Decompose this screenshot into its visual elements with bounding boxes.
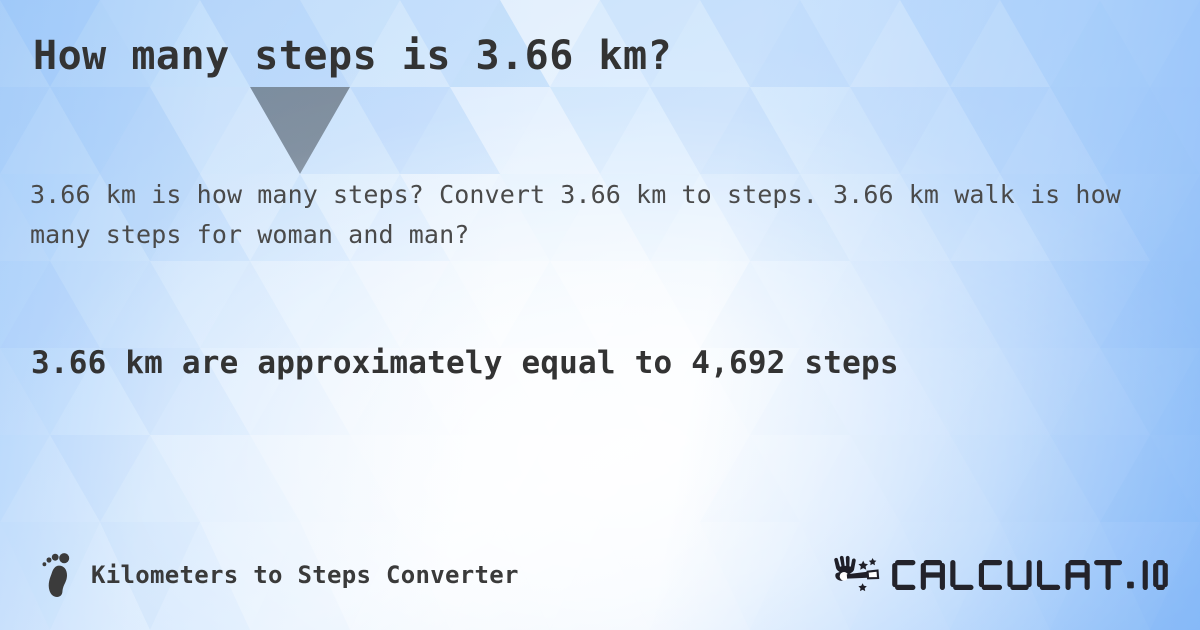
page-description: 3.66 km is how many steps? Convert 3.66 … — [30, 175, 1140, 254]
footprint-icon — [40, 552, 74, 598]
footer-converter-label-group: Kilometers to Steps Converter — [40, 540, 519, 610]
conversion-result: 3.66 km are approximately equal to 4,692… — [31, 345, 1171, 381]
magic-wand-hand-icon — [829, 553, 881, 597]
footer: Kilometers to Steps Converter — [0, 540, 1200, 610]
brand-wordmark — [890, 555, 1168, 595]
brand-logo[interactable] — [829, 540, 1168, 610]
footer-converter-label: Kilometers to Steps Converter — [91, 561, 519, 589]
og-image-card: How many steps is 3.66 km? 3.66 km is ho… — [0, 0, 1200, 630]
page-title: How many steps is 3.66 km? — [33, 33, 1163, 80]
brand-dot — [1127, 582, 1134, 589]
